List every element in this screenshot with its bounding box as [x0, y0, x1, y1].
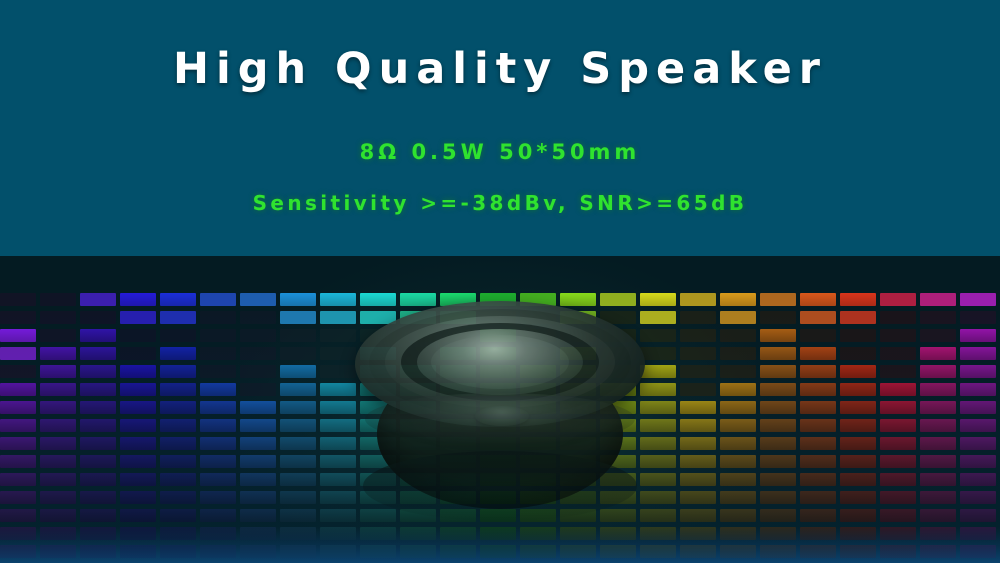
equalizer-bar — [240, 509, 276, 522]
equalizer-bar — [280, 509, 316, 522]
equalizer-bar — [920, 491, 956, 504]
equalizer-bar — [200, 491, 236, 504]
equalizer-bar — [600, 473, 636, 486]
equalizer-bar — [960, 383, 996, 396]
equalizer-bar — [720, 527, 756, 540]
equalizer-bar — [280, 491, 316, 504]
equalizer-bar — [800, 545, 836, 558]
equalizer-bar — [520, 455, 556, 468]
equalizer-bar — [640, 347, 676, 360]
equalizer-bar — [120, 473, 156, 486]
equalizer-bar — [360, 347, 396, 360]
equalizer-bar — [480, 401, 516, 414]
equalizer-bar — [160, 401, 196, 414]
equalizer-bar — [800, 491, 836, 504]
equalizer-bar — [360, 491, 396, 504]
equalizer-bar — [760, 329, 796, 342]
equalizer-bar — [560, 347, 596, 360]
equalizer-bar — [480, 437, 516, 450]
equalizer-bar — [360, 383, 396, 396]
equalizer-bar — [360, 455, 396, 468]
equalizer-bar — [600, 527, 636, 540]
equalizer-bar — [760, 419, 796, 432]
equalizer-bar — [760, 365, 796, 378]
equalizer-bar — [600, 491, 636, 504]
equalizer-bar — [40, 437, 76, 450]
equalizer-bar — [520, 527, 556, 540]
equalizer-bar — [240, 347, 276, 360]
equalizer-bar — [840, 437, 876, 450]
equalizer-bar — [160, 347, 196, 360]
equalizer-bar — [80, 383, 116, 396]
equalizer-bar — [880, 545, 916, 558]
equalizer-bar — [200, 329, 236, 342]
equalizer-bar — [320, 545, 356, 558]
equalizer-bar — [600, 455, 636, 468]
equalizer-bar — [480, 545, 516, 558]
equalizer-bar — [280, 419, 316, 432]
equalizer-bar — [840, 545, 876, 558]
equalizer-bar — [400, 401, 436, 414]
equalizer-bar — [40, 491, 76, 504]
equalizer-bar — [920, 419, 956, 432]
equalizer-bar — [640, 365, 676, 378]
equalizer-bar — [560, 545, 596, 558]
equalizer-bar — [680, 347, 716, 360]
equalizer-bar — [840, 311, 876, 324]
equalizer-bar — [520, 401, 556, 414]
equalizer-bar — [200, 419, 236, 432]
equalizer-bar — [320, 509, 356, 522]
equalizer-bar — [200, 509, 236, 522]
equalizer-bar — [600, 365, 636, 378]
speaker-cone-inner — [431, 335, 569, 389]
equalizer-bar — [240, 527, 276, 540]
equalizer-bar — [760, 509, 796, 522]
equalizer-bar — [800, 437, 836, 450]
equalizer-bar — [40, 509, 76, 522]
equalizer-bar — [120, 491, 156, 504]
equalizer-bar — [880, 491, 916, 504]
equalizer-bar — [640, 419, 676, 432]
equalizer-bar — [960, 365, 996, 378]
equalizer-bar — [80, 365, 116, 378]
equalizer-bar — [400, 419, 436, 432]
equalizer-bar — [240, 437, 276, 450]
equalizer-bar — [320, 347, 356, 360]
equalizer-bar — [120, 437, 156, 450]
equalizer-bar — [520, 437, 556, 450]
equalizer-bar — [680, 473, 716, 486]
equalizer-bar — [720, 347, 756, 360]
equalizer-bar — [320, 365, 356, 378]
equalizer-bar — [920, 365, 956, 378]
equalizer-bar — [800, 419, 836, 432]
equalizer-bar — [680, 545, 716, 558]
equalizer-bar — [640, 527, 676, 540]
equalizer-bar — [240, 383, 276, 396]
equalizer-bar — [80, 473, 116, 486]
equalizer-bar — [0, 383, 36, 396]
equalizer-bar — [760, 311, 796, 324]
equalizer-bar — [680, 419, 716, 432]
equalizer-bar — [240, 473, 276, 486]
equalizer-bar — [320, 437, 356, 450]
equalizer-bar — [920, 383, 956, 396]
spec-line-sensitivity-snr: Sensitivity >=-38dBv, SNR>=65dB — [0, 191, 1000, 215]
equalizer-bar — [560, 329, 596, 342]
equalizer-bar — [80, 311, 116, 324]
equalizer-bar — [400, 329, 436, 342]
equalizer-bar — [920, 437, 956, 450]
equalizer-bar — [120, 365, 156, 378]
equalizer-bar — [400, 527, 436, 540]
equalizer-bar — [560, 401, 596, 414]
equalizer-bar — [200, 365, 236, 378]
equalizer-bar — [440, 311, 476, 324]
equalizer-bar — [120, 311, 156, 324]
equalizer-peak-cap — [840, 293, 876, 306]
equalizer-bar — [200, 347, 236, 360]
equalizer-bar — [400, 545, 436, 558]
equalizer-bar — [240, 365, 276, 378]
equalizer-bar — [120, 509, 156, 522]
equalizer-bar — [720, 365, 756, 378]
equalizer-bar — [640, 311, 676, 324]
equalizer-bar — [40, 293, 76, 306]
equalizer-bar — [440, 347, 476, 360]
equalizer-bar — [440, 491, 476, 504]
equalizer-bar — [800, 347, 836, 360]
equalizer-bar — [160, 455, 196, 468]
page-title: High Quality Speaker — [0, 44, 1000, 94]
equalizer-bar — [720, 545, 756, 558]
equalizer-bar — [840, 329, 876, 342]
equalizer-peak-cap — [360, 293, 396, 306]
equalizer-bar — [560, 437, 596, 450]
equalizer-bar — [360, 365, 396, 378]
equalizer-bar — [0, 419, 36, 432]
equalizer-bar — [280, 401, 316, 414]
equalizer-bar — [200, 455, 236, 468]
equalizer-bar — [840, 383, 876, 396]
equalizer-bar — [920, 329, 956, 342]
equalizer-bar — [920, 311, 956, 324]
equalizer-bar — [640, 491, 676, 504]
equalizer-bar — [840, 455, 876, 468]
equalizer-bar — [0, 545, 36, 558]
equalizer-bar — [680, 311, 716, 324]
equalizer-bar — [960, 473, 996, 486]
equalizer-bar — [320, 401, 356, 414]
equalizer-bar — [560, 455, 596, 468]
equalizer-bar — [0, 401, 36, 414]
equalizer-bar — [160, 437, 196, 450]
equalizer-bar — [600, 437, 636, 450]
equalizer-bar — [80, 401, 116, 414]
equalizer-bar — [280, 383, 316, 396]
equalizer-bar — [240, 419, 276, 432]
equalizer-bar — [520, 365, 556, 378]
equalizer-bar — [880, 401, 916, 414]
equalizer-bar — [240, 455, 276, 468]
equalizer-bar — [640, 329, 676, 342]
equalizer-bar — [880, 293, 916, 306]
equalizer-bar — [40, 455, 76, 468]
equalizer-bar — [800, 329, 836, 342]
equalizer-bar — [680, 365, 716, 378]
equalizer-bar — [680, 383, 716, 396]
equalizer-bar — [240, 545, 276, 558]
equalizer-bar — [0, 473, 36, 486]
equalizer-bar — [800, 401, 836, 414]
equalizer-bar — [160, 473, 196, 486]
equalizer-bar — [40, 329, 76, 342]
equalizer-bar — [160, 509, 196, 522]
equalizer-bar — [400, 347, 436, 360]
equalizer-bar — [0, 437, 36, 450]
equalizer-bar — [960, 545, 996, 558]
equalizer-peak-cap — [0, 329, 36, 342]
equalizer-bar — [240, 401, 276, 414]
equalizer-bar — [800, 527, 836, 540]
equalizer-bar — [400, 437, 436, 450]
equalizer-bar — [440, 473, 476, 486]
equalizer-bar — [520, 545, 556, 558]
equalizer-bar — [920, 473, 956, 486]
equalizer-bar — [720, 419, 756, 432]
equalizer-bar — [760, 455, 796, 468]
equalizer-bar — [160, 545, 196, 558]
equalizer-bar — [320, 491, 356, 504]
equalizer-bar — [360, 527, 396, 540]
equalizer-bar — [240, 329, 276, 342]
equalizer-bar — [440, 419, 476, 432]
equalizer-bar — [240, 293, 276, 306]
equalizer-bar — [280, 437, 316, 450]
equalizer-bar — [160, 365, 196, 378]
equalizer-bar — [120, 419, 156, 432]
equalizer-bar — [80, 293, 116, 306]
equalizer-bar — [400, 383, 436, 396]
equalizer-bar — [200, 527, 236, 540]
equalizer-bar — [200, 473, 236, 486]
equalizer-bar — [800, 455, 836, 468]
equalizer-bar — [160, 311, 196, 324]
equalizer-bar — [80, 509, 116, 522]
equalizer-bar — [480, 419, 516, 432]
equalizer-bar — [920, 527, 956, 540]
equalizer-bar — [960, 455, 996, 468]
equalizer-bar — [560, 311, 596, 324]
equalizer-bar — [0, 347, 36, 360]
equalizer-bar — [120, 401, 156, 414]
equalizer-bar — [120, 347, 156, 360]
equalizer-bar — [0, 491, 36, 504]
equalizer-bar — [0, 527, 36, 540]
equalizer-bar — [520, 473, 556, 486]
equalizer-bar — [440, 437, 476, 450]
equalizer-bar — [760, 545, 796, 558]
equalizer-bar — [640, 545, 676, 558]
equalizer-bar — [440, 365, 476, 378]
equalizer-bar — [360, 419, 396, 432]
equalizer-bar — [760, 437, 796, 450]
equalizer-bar — [360, 437, 396, 450]
equalizer-bar — [320, 311, 356, 324]
equalizer-bar — [200, 401, 236, 414]
equalizer-bar — [720, 509, 756, 522]
equalizer-bar — [480, 347, 516, 360]
equalizer-bar — [0, 509, 36, 522]
equalizer-bar — [760, 491, 796, 504]
equalizer-peak-cap — [720, 293, 756, 306]
equalizer-bar — [880, 365, 916, 378]
equalizer-bar — [320, 527, 356, 540]
equalizer-bar — [800, 365, 836, 378]
equalizer-bar — [840, 491, 876, 504]
equalizer-bar — [960, 311, 996, 324]
equalizer-bar — [360, 311, 396, 324]
equalizer-bar — [520, 491, 556, 504]
equalizer-bar — [600, 545, 636, 558]
equalizer-peak-cap — [160, 293, 196, 306]
equalizer-bar — [520, 509, 556, 522]
equalizer-bar — [200, 437, 236, 450]
equalizer-bar — [560, 419, 596, 432]
equalizer-bar — [840, 365, 876, 378]
equalizer-bar — [40, 347, 76, 360]
equalizer-bar — [280, 347, 316, 360]
equalizer-bar — [760, 527, 796, 540]
equalizer-bar — [720, 329, 756, 342]
equalizer-peak-cap — [440, 293, 476, 306]
equalizer-bar — [680, 509, 716, 522]
equalizer-bar — [200, 311, 236, 324]
equalizer-bar — [680, 293, 716, 306]
equalizer-bar — [560, 473, 596, 486]
equalizer-bar — [600, 383, 636, 396]
equalizer-peak-cap — [800, 293, 836, 306]
equalizer-bar — [760, 383, 796, 396]
equalizer-peak-cap — [120, 293, 156, 306]
equalizer-bar — [160, 329, 196, 342]
equalizer-bar — [0, 293, 36, 306]
equalizer-bar — [280, 329, 316, 342]
equalizer-bar — [280, 311, 316, 324]
equalizer-bar — [560, 383, 596, 396]
equalizer-bar — [680, 455, 716, 468]
equalizer-bar — [400, 491, 436, 504]
equalizer-bar — [960, 437, 996, 450]
equalizer-bar — [80, 329, 116, 342]
equalizer-bar — [320, 419, 356, 432]
equalizer-bar — [120, 455, 156, 468]
equalizer-bar — [200, 545, 236, 558]
equalizer-bar — [480, 455, 516, 468]
equalizer-bar — [840, 419, 876, 432]
equalizer-bar — [720, 455, 756, 468]
equalizer-bar — [800, 383, 836, 396]
equalizer-bar — [720, 491, 756, 504]
equalizer-bar — [880, 527, 916, 540]
equalizer-bar — [40, 527, 76, 540]
equalizer-bar — [480, 491, 516, 504]
equalizer-bar — [80, 419, 116, 432]
equalizer-bar — [720, 311, 756, 324]
speaker-product-banner: High Quality Speaker 8Ω 0.5W 50*50mm Sen… — [0, 0, 1000, 563]
equalizer-bar — [480, 293, 516, 306]
equalizer-bar — [800, 311, 836, 324]
equalizer-bar — [520, 293, 556, 306]
equalizer-bar — [240, 311, 276, 324]
equalizer-bar — [560, 527, 596, 540]
equalizer-bar — [280, 473, 316, 486]
equalizer-bar — [720, 437, 756, 450]
equalizer-bar — [280, 527, 316, 540]
equalizer-bar — [960, 491, 996, 504]
equalizer-bar — [760, 293, 796, 306]
equalizer-bar — [920, 293, 956, 306]
equalizer-peak-cap — [320, 293, 356, 306]
equalizer-bar — [400, 509, 436, 522]
equalizer-bar — [0, 455, 36, 468]
equalizer-bar — [680, 437, 716, 450]
equalizer-bar — [960, 419, 996, 432]
equalizer-bar — [120, 527, 156, 540]
equalizer-bar — [80, 437, 116, 450]
equalizer-bar — [240, 491, 276, 504]
equalizer-bar — [560, 491, 596, 504]
equalizer-bar — [600, 329, 636, 342]
spec-line-impedance-power-size: 8Ω 0.5W 50*50mm — [0, 140, 1000, 164]
equalizer-bar — [640, 383, 676, 396]
equalizer-bar — [640, 473, 676, 486]
equalizer-bar — [960, 293, 996, 306]
equalizer-peak-cap — [560, 293, 596, 306]
equalizer-bar — [280, 455, 316, 468]
equalizer-bar — [120, 545, 156, 558]
equalizer-bar — [120, 329, 156, 342]
equalizer-bar — [520, 419, 556, 432]
equalizer-bar — [640, 401, 676, 414]
equalizer-bar — [600, 419, 636, 432]
equalizer-bar — [840, 509, 876, 522]
equalizer-bar — [880, 383, 916, 396]
equalizer-bar — [680, 491, 716, 504]
equalizer-bar — [360, 509, 396, 522]
equalizer-bar — [120, 383, 156, 396]
equalizer-bar — [400, 455, 436, 468]
equalizer-bar — [400, 365, 436, 378]
equalizer-bar — [80, 455, 116, 468]
equalizer-bar — [920, 455, 956, 468]
equalizer-bar — [960, 329, 996, 342]
equalizer-bar — [640, 455, 676, 468]
equalizer-bar — [880, 347, 916, 360]
equalizer-bar — [920, 347, 956, 360]
equalizer-bar — [160, 491, 196, 504]
equalizer-bar — [760, 347, 796, 360]
equalizer-bar — [680, 527, 716, 540]
equalizer-bar — [320, 455, 356, 468]
equalizer-bar — [40, 473, 76, 486]
equalizer-bar — [80, 491, 116, 504]
equalizer-bar — [440, 527, 476, 540]
equalizer-bar — [360, 473, 396, 486]
equalizer-bar — [320, 329, 356, 342]
equalizer-bar — [560, 365, 596, 378]
